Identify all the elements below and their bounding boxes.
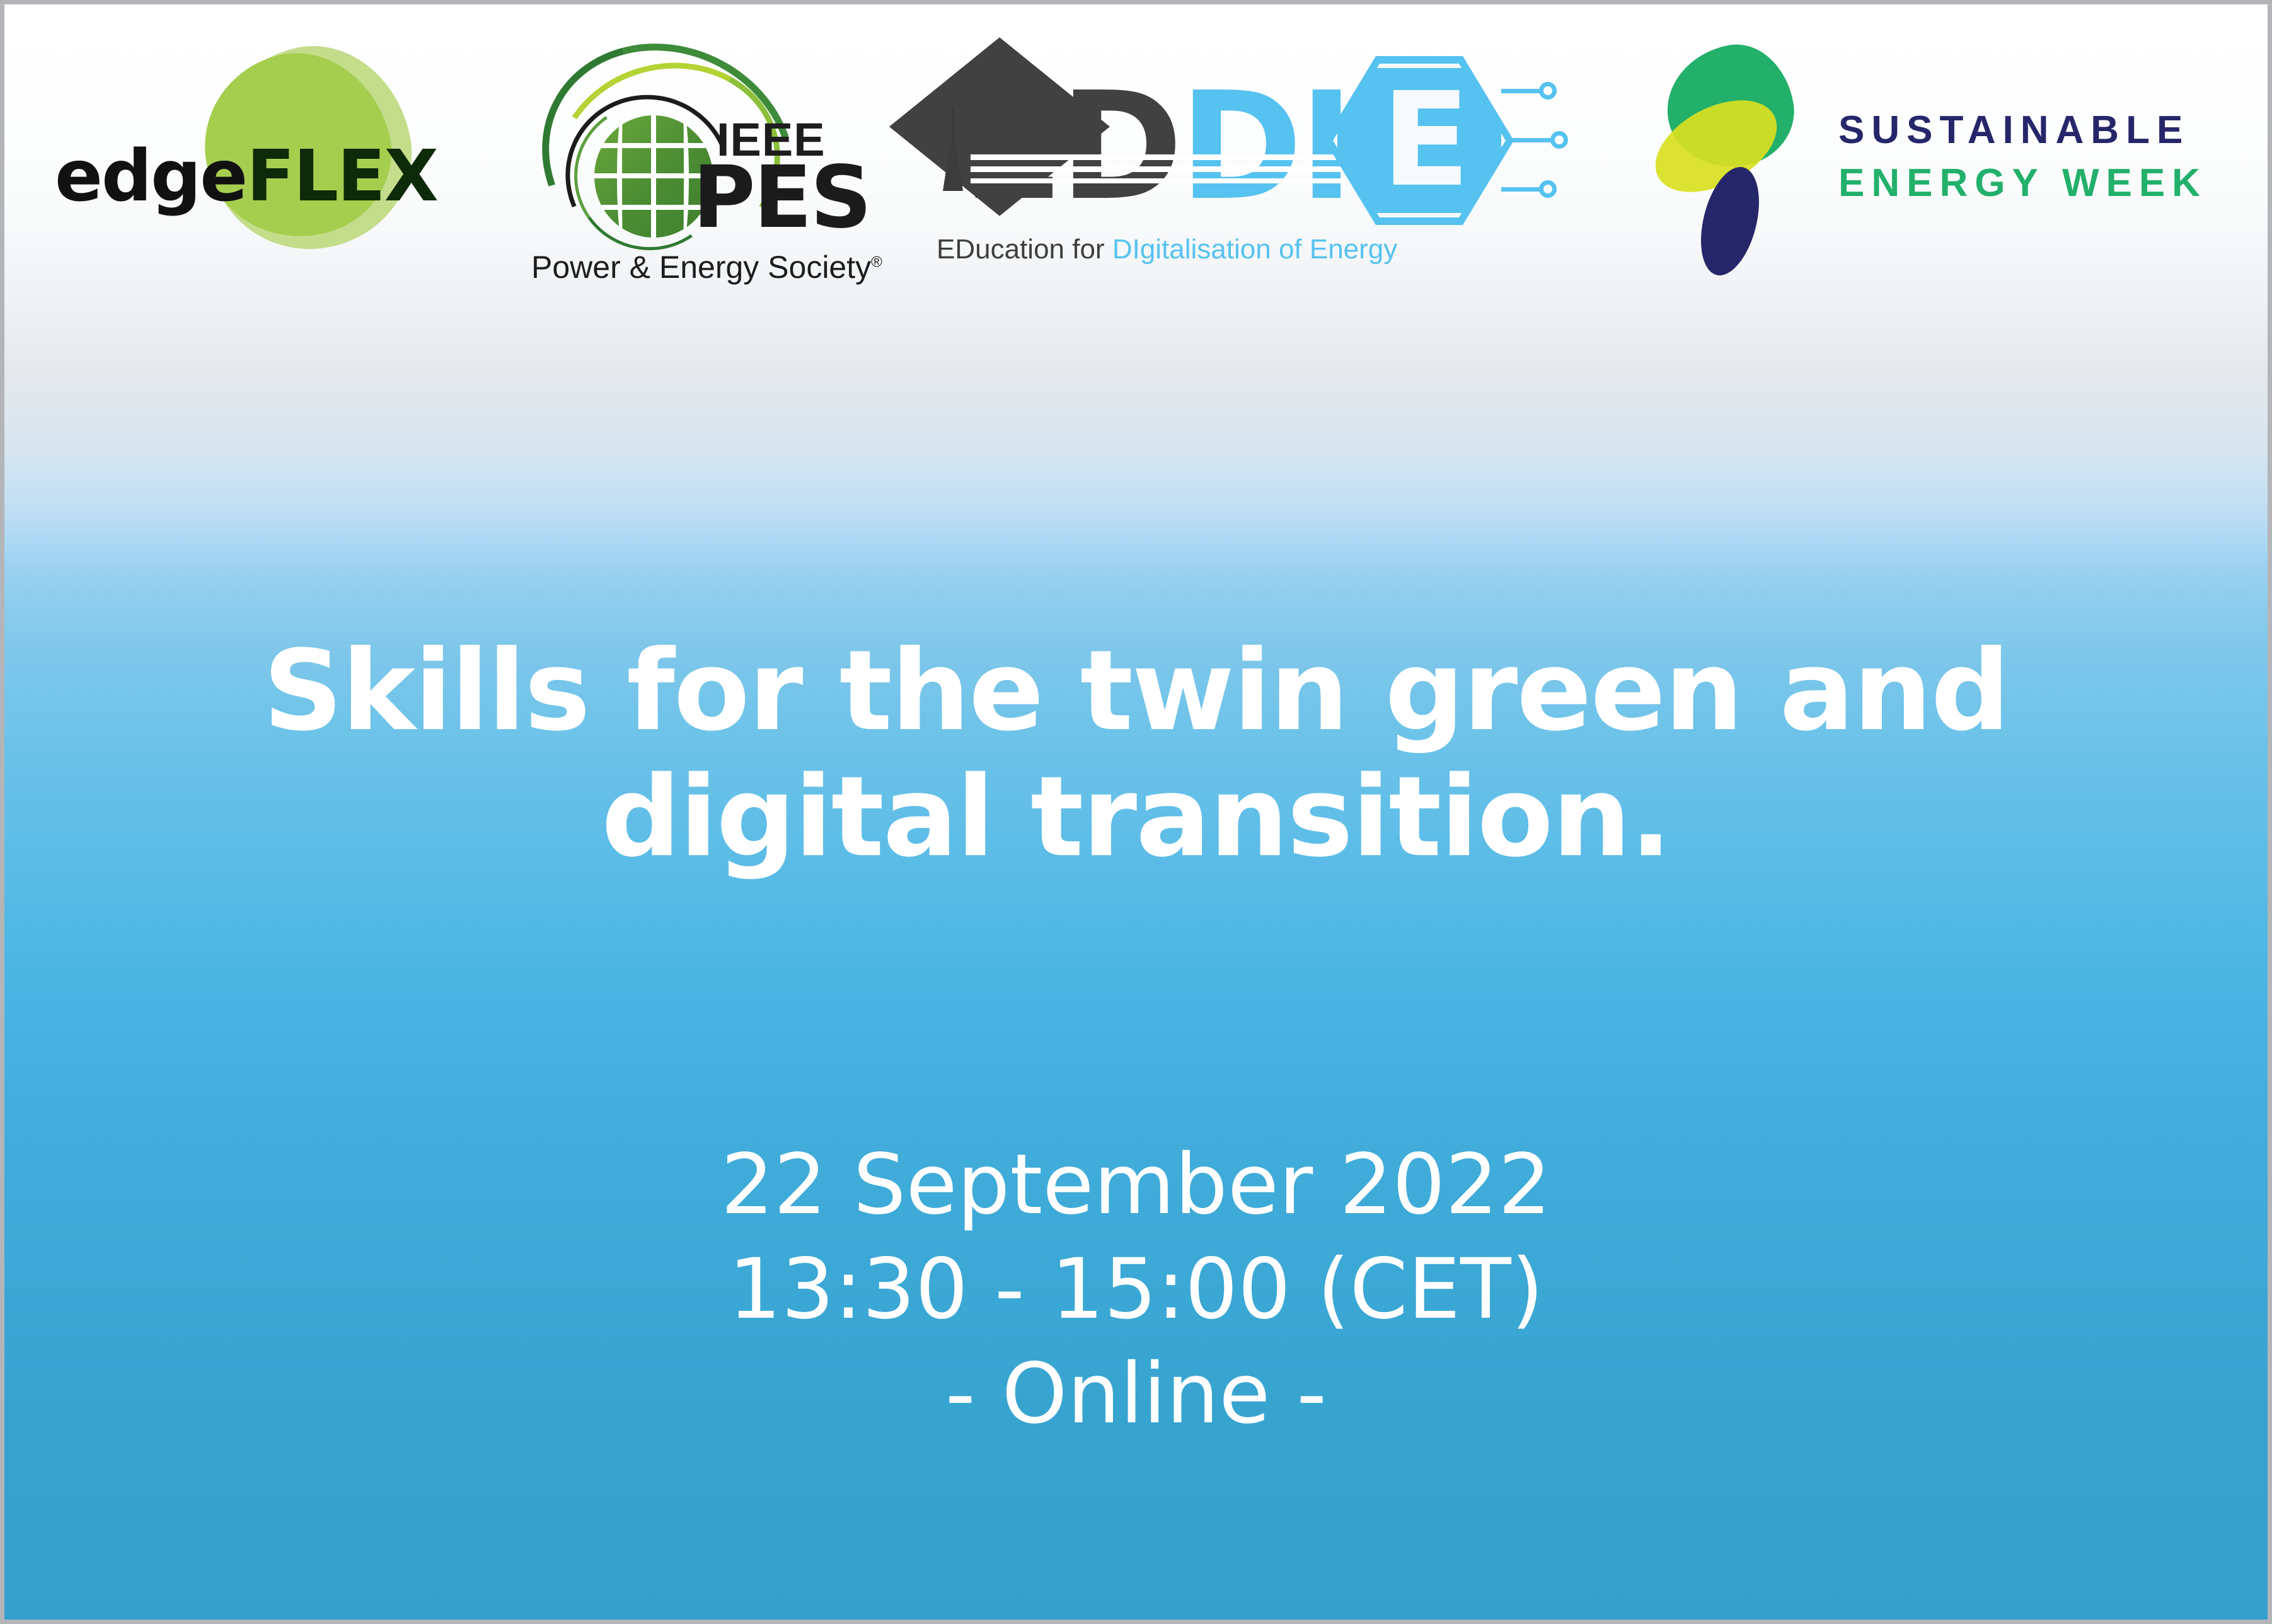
eddie-tagline-dark: EDucation for bbox=[937, 234, 1112, 265]
page-title-line2: digital transition. bbox=[4, 754, 2268, 880]
edgeflex-wordmark: edgeFLEX bbox=[55, 135, 446, 217]
eddie-circuit-wire-top-icon bbox=[1501, 89, 1542, 93]
eddie-letters-blue: DI bbox=[1179, 60, 1351, 233]
sustainable-energy-week-logo: SUSTAINABLE ENERGY WEEK bbox=[1649, 42, 2217, 269]
page-title-line1: Skills for the twin green and bbox=[263, 626, 2009, 756]
sew-wordmark-line2: ENERGY WEEK bbox=[1838, 161, 2207, 205]
eddie-hexagon-letter: E bbox=[1381, 93, 1470, 187]
sew-wordmark-line1: SUSTAINABLE bbox=[1838, 108, 2189, 153]
edgeflex-word-edge: edge bbox=[55, 135, 246, 217]
pes-pes-wordmark: PES bbox=[693, 148, 870, 248]
eddie-circuit-node-top-icon bbox=[1539, 82, 1557, 100]
eddie-circuit-wire-bottom-icon bbox=[1501, 187, 1542, 192]
eddie-tagline: EDucation for DIgitalisation of Energy bbox=[937, 234, 1397, 265]
event-date: 22 September 2022 bbox=[4, 1132, 2268, 1237]
event-time: 13:30 - 15:00 (CET) bbox=[4, 1237, 2268, 1342]
event-location: - Online - bbox=[4, 1342, 2268, 1446]
eddie-tagline-blue: DIgitalisation of Energy bbox=[1112, 234, 1397, 265]
eddie-logo: EDDI E EDucation for DIgitalisation of E… bbox=[921, 42, 1564, 294]
page-title: Skills for the twin green and digital tr… bbox=[4, 628, 2268, 880]
logo-strip: edgeFLEX IEEE PES Power & Energy Society… bbox=[4, 42, 2268, 294]
pes-subtitle-text: Power & Energy Society bbox=[531, 250, 871, 285]
eddie-wordmark: EDDI bbox=[962, 72, 1351, 221]
eddie-letters-dark: ED bbox=[962, 60, 1179, 233]
eddie-circuit-node-mid-icon bbox=[1550, 131, 1568, 149]
event-poster: edgeFLEX IEEE PES Power & Energy Society… bbox=[0, 0, 2272, 1624]
pes-registered-mark: ® bbox=[871, 253, 882, 270]
event-details: 22 September 2022 13:30 - 15:00 (CET) - … bbox=[4, 1132, 2268, 1446]
eddie-stripes-icon bbox=[971, 154, 1355, 183]
pes-subtitle: Power & Energy Society® bbox=[531, 249, 882, 285]
eddie-tassel-cord-icon bbox=[952, 107, 955, 146]
edgeflex-logo: edgeFLEX bbox=[55, 42, 446, 269]
eddie-circuit-node-bottom-icon bbox=[1539, 180, 1557, 198]
ieee-pes-logo: IEEE PES Power & Energy Society® bbox=[528, 42, 893, 294]
edgeflex-word-flex: FLEX bbox=[246, 135, 437, 217]
eddie-circuit-wire-mid-icon bbox=[1513, 138, 1553, 142]
